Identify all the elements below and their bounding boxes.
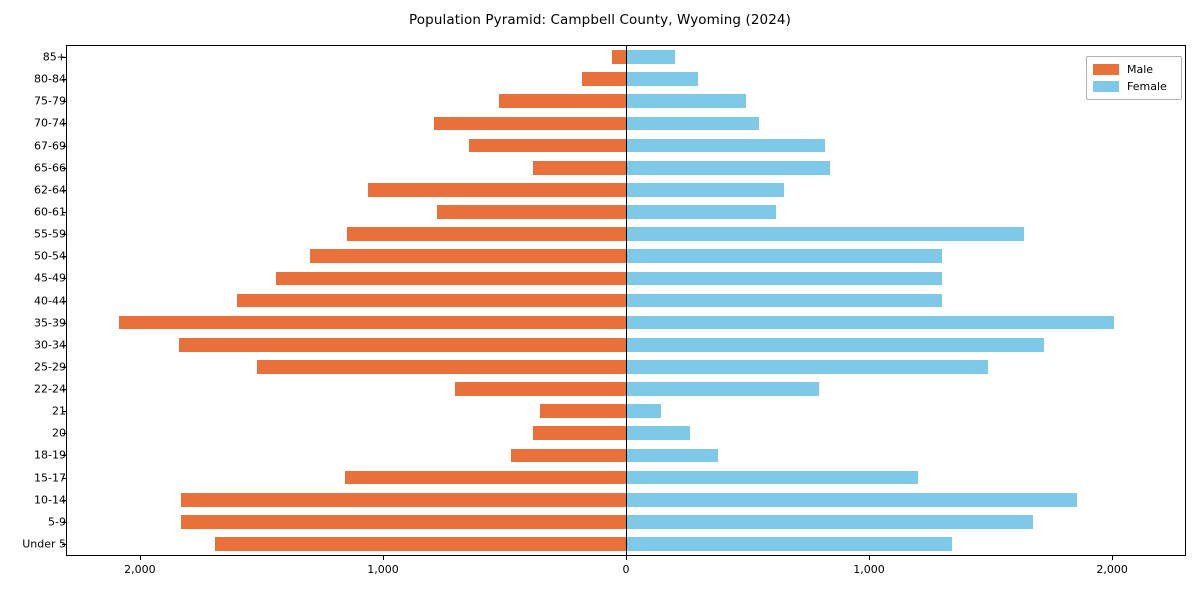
chart-title: Population Pyramid: Campbell County, Wyo…	[0, 12, 1200, 28]
bar-male-10-14	[181, 493, 626, 507]
bar-female-55-59	[626, 227, 1024, 241]
bar-male-25-29	[257, 360, 626, 374]
bar-male-50-54	[310, 249, 626, 263]
bar-male-21	[540, 404, 626, 418]
bar-female-60-61	[626, 205, 776, 219]
bar-female-85-	[626, 50, 675, 64]
bar-female-30-34	[626, 338, 1044, 352]
bar-female-65-66	[626, 161, 830, 175]
bar-female-70-74	[626, 117, 759, 131]
bar-female-under-5	[626, 537, 952, 551]
bar-male-20	[533, 426, 626, 440]
bar-male-65-66	[533, 161, 626, 175]
bar-female-40-44	[626, 294, 942, 308]
x-tick-mark	[869, 556, 870, 560]
legend-label-female: Female	[1127, 81, 1167, 92]
x-tick-mark	[1112, 556, 1113, 560]
bar-female-5-9	[626, 515, 1033, 529]
bar-male-30-34	[179, 338, 626, 352]
population-pyramid-figure: Population Pyramid: Campbell County, Wyo…	[0, 0, 1200, 600]
x-tick-label: 2,000	[124, 563, 156, 576]
x-tick-mark	[626, 556, 627, 560]
legend-item-female: Female	[1093, 78, 1175, 95]
bar-female-22-24	[626, 382, 819, 396]
x-tick-mark	[140, 556, 141, 560]
bar-female-45-49	[626, 272, 942, 286]
bar-male-15-17	[345, 471, 626, 485]
bar-male-under-5	[215, 537, 626, 551]
bar-male-62-64	[368, 183, 626, 197]
bar-female-50-54	[626, 249, 942, 263]
plot-area	[66, 45, 1186, 556]
bar-female-35-39	[626, 316, 1114, 330]
bar-female-15-17	[626, 471, 918, 485]
x-tick-label: 1,000	[853, 563, 885, 576]
bar-female-10-14	[626, 493, 1077, 507]
bar-male-80-84	[582, 72, 626, 86]
bar-female-18-19	[626, 449, 718, 463]
legend-swatch-female-icon	[1093, 81, 1119, 92]
bar-male-70-74	[434, 117, 626, 131]
x-tick-label: 2,000	[1096, 563, 1128, 576]
bar-male-67-69	[469, 139, 626, 153]
bar-male-40-44	[237, 294, 626, 308]
bar-female-67-69	[626, 139, 825, 153]
bar-female-75-79	[626, 94, 746, 108]
legend-item-male: Male	[1093, 61, 1175, 78]
bar-female-80-84	[626, 72, 698, 86]
chart-legend: Male Female	[1086, 56, 1182, 100]
bar-male-35-39	[119, 316, 626, 330]
legend-label-male: Male	[1127, 64, 1153, 75]
bar-male-22-24	[455, 382, 626, 396]
y-tick-label-under-5: Under 5	[22, 537, 66, 550]
x-tick-label: 1,000	[367, 563, 399, 576]
bar-female-25-29	[626, 360, 988, 374]
x-tick-label: 0	[623, 563, 630, 576]
bar-male-85-	[612, 50, 626, 64]
bar-female-21	[626, 404, 661, 418]
legend-swatch-male-icon	[1093, 64, 1119, 75]
bar-female-62-64	[626, 183, 784, 197]
bar-male-75-79	[499, 94, 626, 108]
bar-female-20	[626, 426, 690, 440]
zero-axis-line	[626, 46, 627, 555]
bar-male-55-59	[347, 227, 626, 241]
bar-male-18-19	[511, 449, 626, 463]
bar-male-45-49	[276, 272, 626, 286]
bar-male-5-9	[181, 515, 626, 529]
bar-male-60-61	[437, 205, 626, 219]
x-tick-mark	[383, 556, 384, 560]
